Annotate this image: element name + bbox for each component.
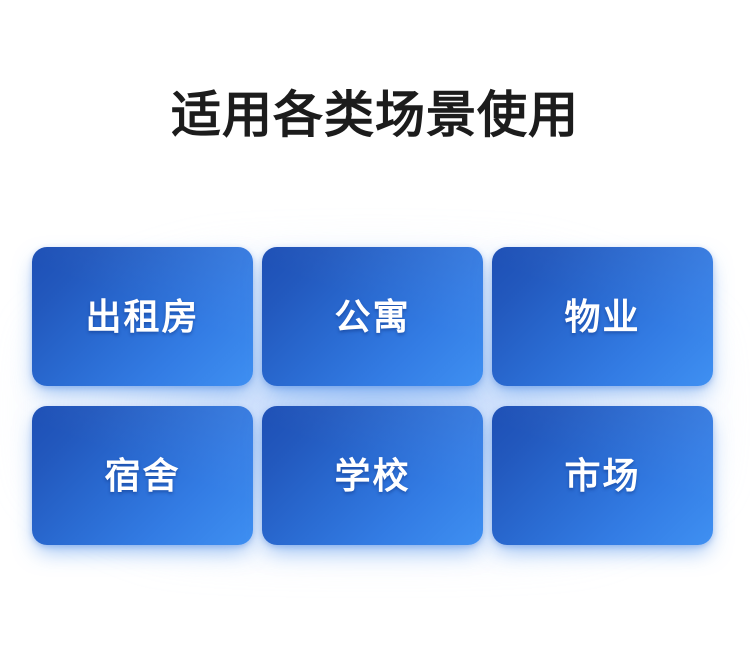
scene-card-apartment[interactable]: 公寓 <box>262 247 483 386</box>
scene-card-market[interactable]: 市场 <box>492 406 713 545</box>
scene-card-label: 市场 <box>564 458 640 494</box>
scene-card-label: 出租房 <box>85 299 199 335</box>
scene-card-label: 宿舍 <box>104 458 180 494</box>
scene-card-label: 公寓 <box>334 299 410 335</box>
scene-card-label: 学校 <box>334 458 410 494</box>
scene-card-label: 物业 <box>564 299 640 335</box>
page-title: 适用各类场景使用 <box>171 90 579 140</box>
scene-card-school[interactable]: 学校 <box>262 406 483 545</box>
scene-showcase-page: 适用各类场景使用 出租房 公寓 物业 宿舍 学校 市场 <box>0 0 750 651</box>
scene-card-property-management[interactable]: 物业 <box>492 247 713 386</box>
scene-card-rental-house[interactable]: 出租房 <box>32 247 253 386</box>
page-title-container: 适用各类场景使用 <box>0 0 750 230</box>
scene-card-grid: 出租房 公寓 物业 宿舍 学校 市场 <box>32 247 713 545</box>
scene-card-dormitory[interactable]: 宿舍 <box>32 406 253 545</box>
